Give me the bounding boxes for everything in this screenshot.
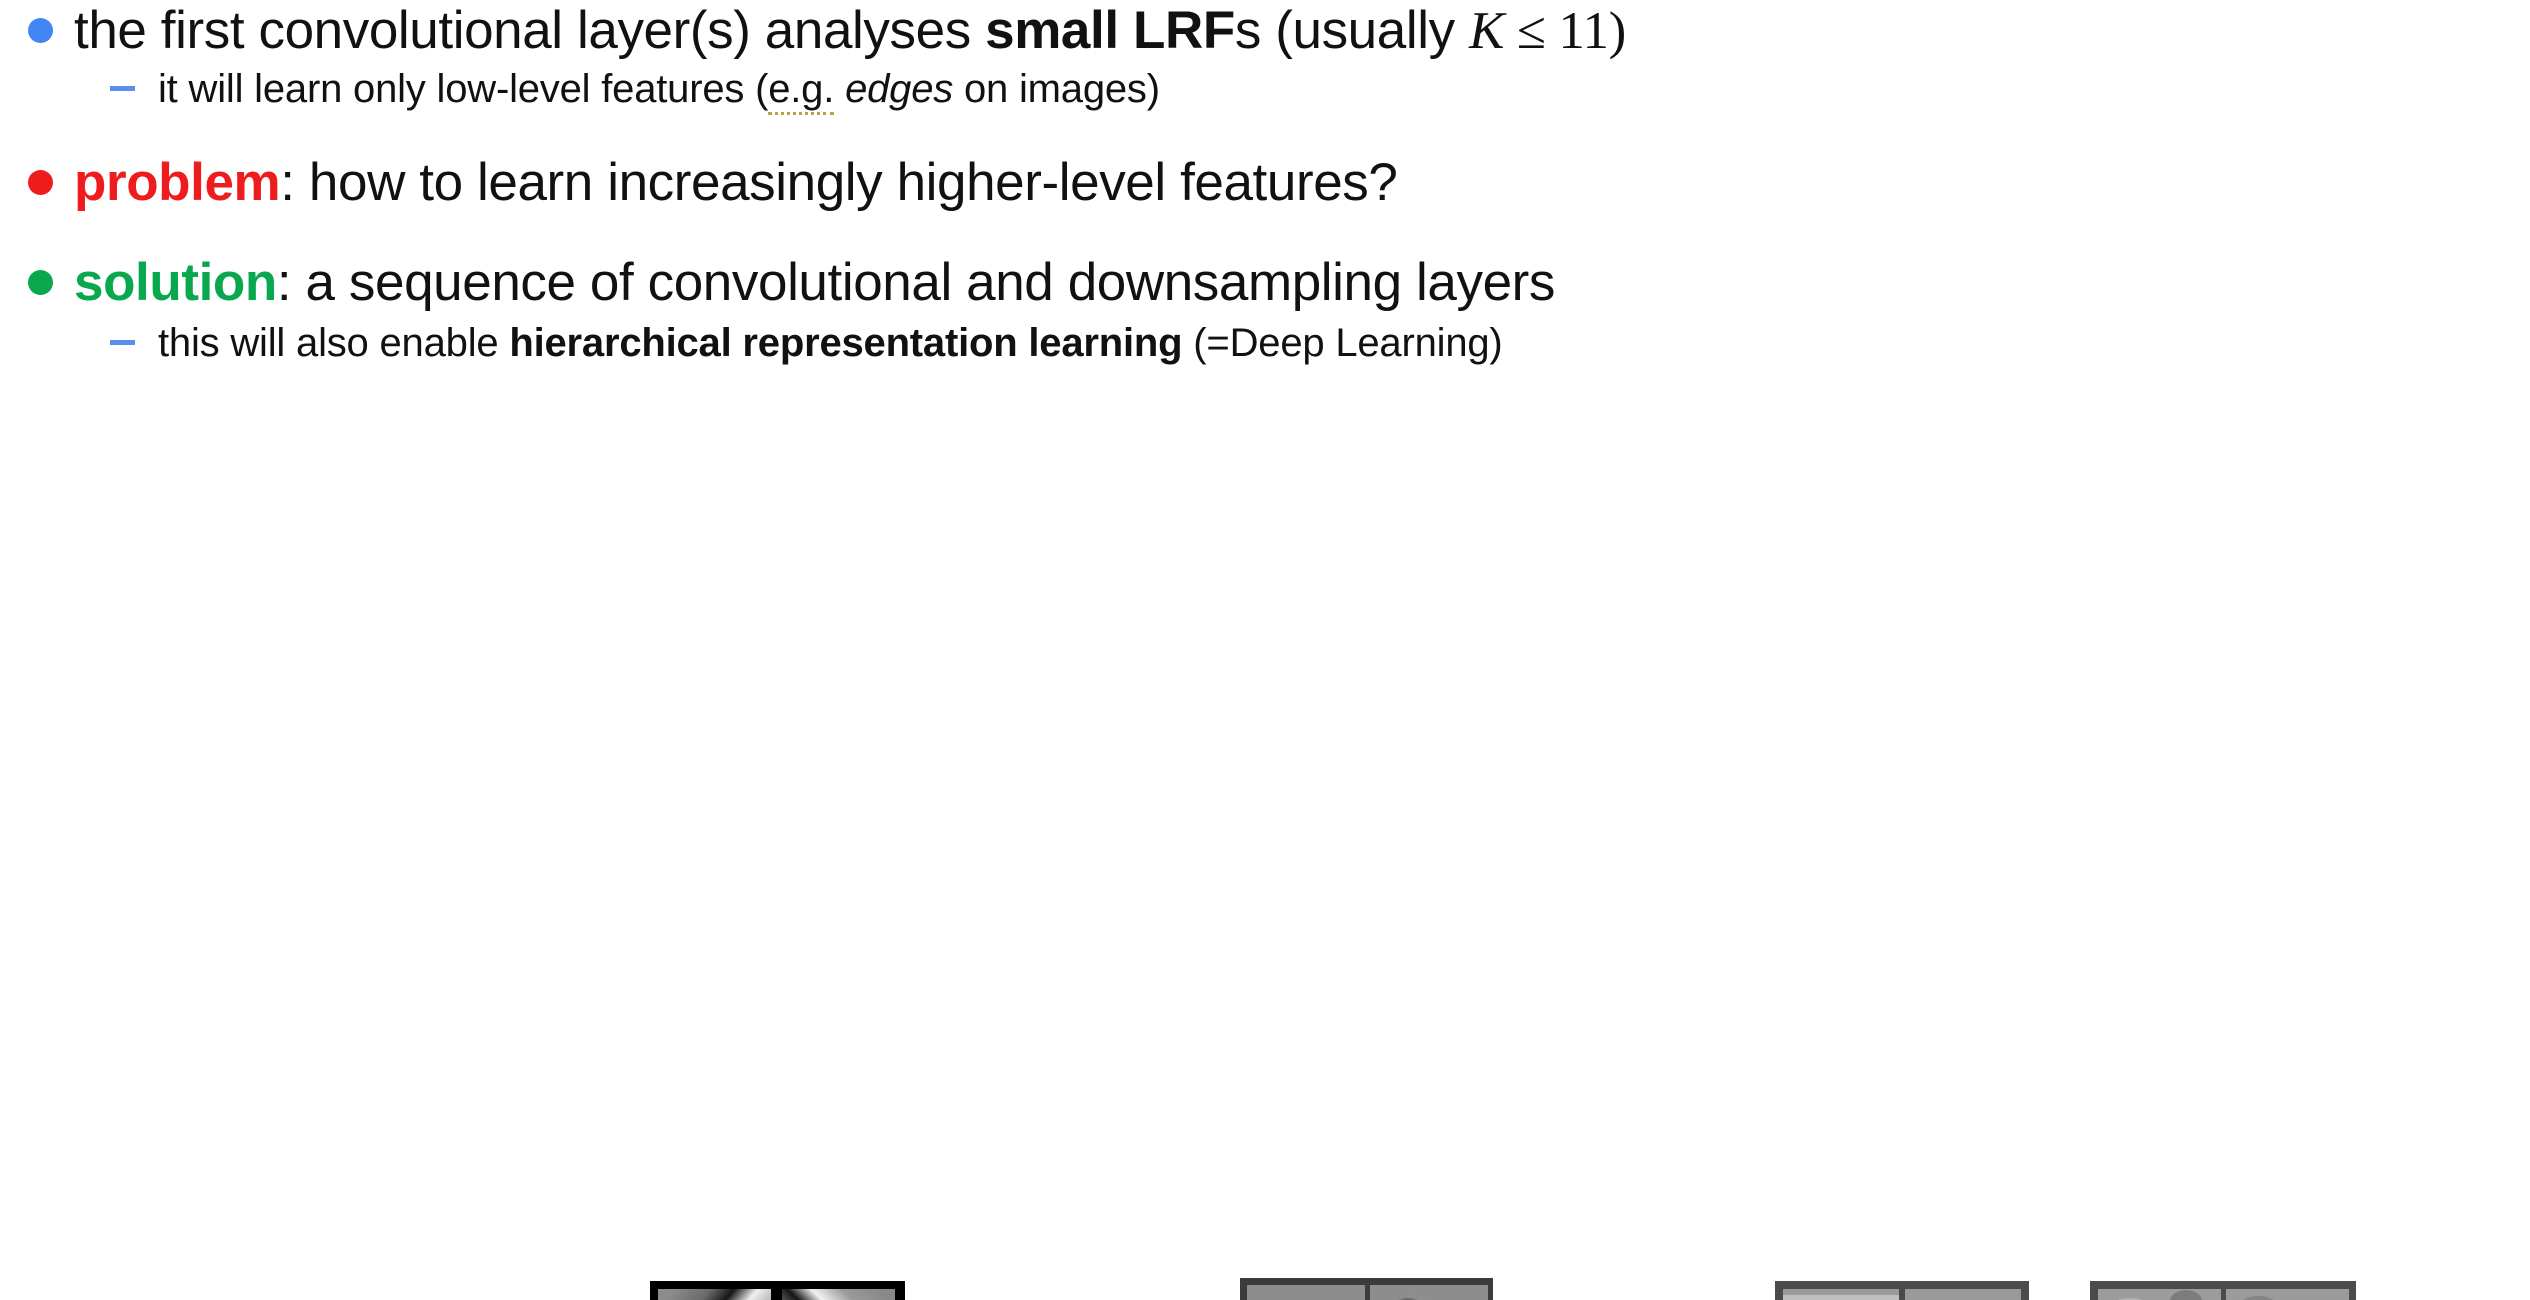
bullet-text-solution: solution: a sequence of convolutional an… (74, 254, 2530, 312)
feature-map-group-object-level-cars (2090, 1281, 2356, 1300)
keyword-solution: solution (74, 253, 277, 312)
bullet-dot-icon-green (28, 254, 74, 310)
bullet-text-first-conv-layer: the first convolutional layer(s) analyse… (74, 2, 2530, 60)
bullet-dash-icon (110, 66, 158, 110)
feature-map-tile (782, 1289, 895, 1300)
feature-map-tile (658, 1289, 771, 1300)
bullet-list: the first convolutional layer(s) analyse… (0, 0, 2530, 372)
bullet-item-low-level-features: it will learn only low-level features (e… (0, 66, 2530, 112)
feature-map-group-high-level-parts (1775, 1281, 2029, 1300)
feature-map-tile (2098, 1289, 2221, 1300)
bullet-dot-icon (28, 2, 74, 58)
feature-map-group-mid-level-blobs (1240, 1278, 1493, 1300)
text-segment: : a sequence of convolutional and downsa… (277, 253, 1555, 312)
slide-root: the first convolutional layer(s) analyse… (0, 0, 2530, 1300)
text-segment: : how to learn increasingly higher-level… (280, 153, 1397, 212)
bullet-dot-icon-red (28, 154, 74, 210)
bullet-text-hierarchical-learning: this will also enable hierarchical repre… (158, 320, 2530, 366)
cnn-diagram-svg: INPUT CONVOLUTION DOWNSAMPLE CONVOLUTION… (0, 595, 2530, 1300)
math-inequality: ≤ 11) (1504, 2, 1626, 60)
text-segment: this will also enable (158, 321, 509, 365)
feature-map-tile (1247, 1285, 1365, 1300)
text-segment-italic: edges (845, 67, 953, 111)
text-segment: (=Deep Learning) (1182, 321, 1502, 365)
text-segment (834, 67, 845, 111)
bullet-text-problem: problem: how to learn increasingly highe… (74, 154, 2530, 212)
math-variable-k: K (1469, 2, 1504, 60)
text-segment-spellchecked: e.g. (768, 67, 834, 115)
feature-map-group-low-level-edges (650, 1281, 905, 1300)
bullet-item-solution: solution: a sequence of convolutional an… (0, 254, 2530, 312)
text-segment: the first convolutional layer(s) analyse… (74, 1, 985, 60)
feature-map-tile (1783, 1289, 1899, 1300)
text-segment: s (usually (1235, 1, 1469, 60)
feature-map-tile (1905, 1289, 2021, 1300)
text-segment-bold: small LRF (985, 1, 1235, 60)
feature-map-tile (2226, 1289, 2349, 1300)
keyword-problem: problem (74, 153, 280, 212)
bullet-item-first-conv-layer: the first convolutional layer(s) analyse… (0, 2, 2530, 60)
bullet-item-hierarchical-learning: this will also enable hierarchical repre… (0, 320, 2530, 366)
bullet-text-low-level-features: it will learn only low-level features (e… (158, 66, 2530, 112)
text-segment: on images) (953, 67, 1160, 111)
feature-map-tile (1370, 1285, 1488, 1300)
bullet-item-problem: problem: how to learn increasingly highe… (0, 154, 2530, 212)
text-segment-bold: hierarchical representation learning (509, 321, 1182, 365)
bullet-dash-icon (110, 320, 158, 364)
cnn-architecture-diagram: INPUT CONVOLUTION DOWNSAMPLE CONVOLUTION… (0, 595, 2530, 1300)
text-segment: it will learn only low-level features ( (158, 67, 768, 111)
